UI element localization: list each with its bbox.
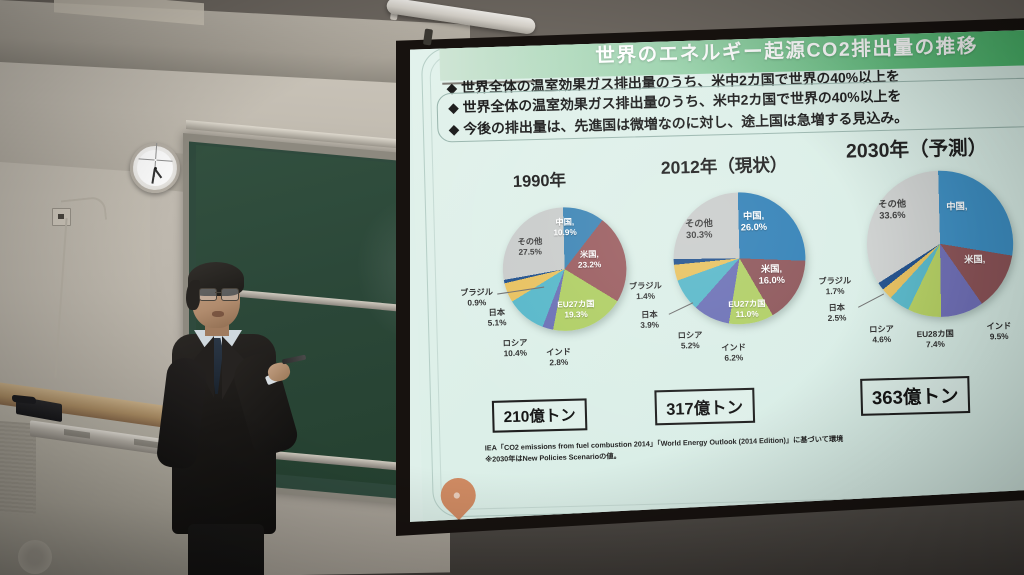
pie-2012-label-brazil: ブラジル1.4% bbox=[629, 281, 662, 302]
pie-2030-label-others: その他33.6% bbox=[878, 198, 906, 221]
pie-1990-label-japan: 日本5.1% bbox=[487, 308, 506, 328]
projection-screen: 世界のエネルギー起源CO2排出量の推移 ◆ 世界全体の温室効果ガス排出量のうち、… bbox=[410, 30, 1024, 522]
clock-tick bbox=[155, 143, 157, 159]
pie-2012-label-eu27: EU27カ国11.0% bbox=[728, 299, 766, 320]
pie-1990-label-brazil: ブラジル0.9% bbox=[460, 287, 493, 308]
pie-2012-label-russia: ロシア5.2% bbox=[678, 330, 703, 350]
presenter bbox=[150, 262, 310, 575]
lectern-vent bbox=[18, 540, 52, 574]
pie-2030-label-eu28: EU28カ国7.4% bbox=[917, 329, 955, 350]
clock-face bbox=[136, 149, 174, 187]
pie-2030-label-brazil: ブラジル1.7% bbox=[818, 276, 851, 297]
pie-chart-2030: 中国, 米国, その他33.6% ブラジル1.7% 日本2.5% ロシア4.6%… bbox=[818, 168, 1024, 370]
pie-2030-slices bbox=[865, 169, 1015, 319]
pie-1990-label-eu27: EU27カ国19.3% bbox=[557, 299, 595, 320]
pie-2030-label-russia: ロシア4.6% bbox=[869, 324, 894, 344]
slide: 世界のエネルギー起源CO2排出量の推移 ◆ 世界全体の温室効果ガス排出量のうち、… bbox=[410, 30, 1024, 522]
pie-2030-label-china: 中国, bbox=[946, 201, 967, 213]
pie-2012-label-japan: 日本3.9% bbox=[640, 310, 659, 330]
presenter-hair-side bbox=[186, 280, 200, 310]
pie-2030-label-india: インド9.5% bbox=[986, 321, 1011, 341]
ceiling-light-panel bbox=[54, 0, 204, 25]
pie-1990-label-usa: 米国,23.2% bbox=[578, 250, 602, 270]
year-label-2030: 2030年（予測） bbox=[846, 132, 988, 164]
pie-2012-label-usa: 米国,16.0% bbox=[758, 263, 785, 286]
total-1990: 210億トン bbox=[492, 398, 588, 432]
total-2012: 317億トン bbox=[654, 388, 754, 426]
clock-minute-hand bbox=[152, 169, 156, 184]
pie-2030-leader-japan bbox=[858, 294, 884, 308]
pie-2012-leader-japan bbox=[669, 302, 694, 314]
lecture-photo: 世界のエネルギー起源CO2排出量の推移 ◆ 世界全体の温室効果ガス排出量のうち、… bbox=[0, 0, 1024, 575]
total-2030: 363億トン bbox=[860, 376, 970, 416]
pie-2012-label-china: 中国,26.0% bbox=[740, 210, 767, 233]
presenter-mouth bbox=[212, 311, 224, 317]
pie-1990-label-india: インド2.8% bbox=[546, 347, 571, 367]
pie-2012-label-others: その他30.3% bbox=[685, 218, 713, 241]
rail-mark bbox=[64, 429, 90, 439]
year-label-2012: 2012年（現状） bbox=[661, 150, 788, 179]
pointer-device bbox=[282, 355, 307, 365]
pie-2030-label-japan: 日本2.5% bbox=[827, 303, 846, 323]
year-label-1990: 1990年 bbox=[513, 166, 567, 192]
cable bbox=[61, 196, 107, 224]
pie-1990-label-russia: ロシア10.4% bbox=[503, 338, 528, 358]
pie-1990-label-others: その他27.5% bbox=[517, 237, 542, 257]
presenter-legs bbox=[188, 524, 264, 575]
pie-1990-label-china: 中国,10.9% bbox=[553, 217, 577, 237]
clock-tick bbox=[139, 158, 155, 160]
clock-center-pin bbox=[153, 166, 156, 169]
eyeglasses-icon bbox=[199, 288, 239, 299]
clock-tick bbox=[157, 160, 173, 162]
pie-2030-label-usa: 米国, bbox=[964, 254, 985, 266]
pie-2012-label-india: インド6.2% bbox=[721, 343, 746, 363]
